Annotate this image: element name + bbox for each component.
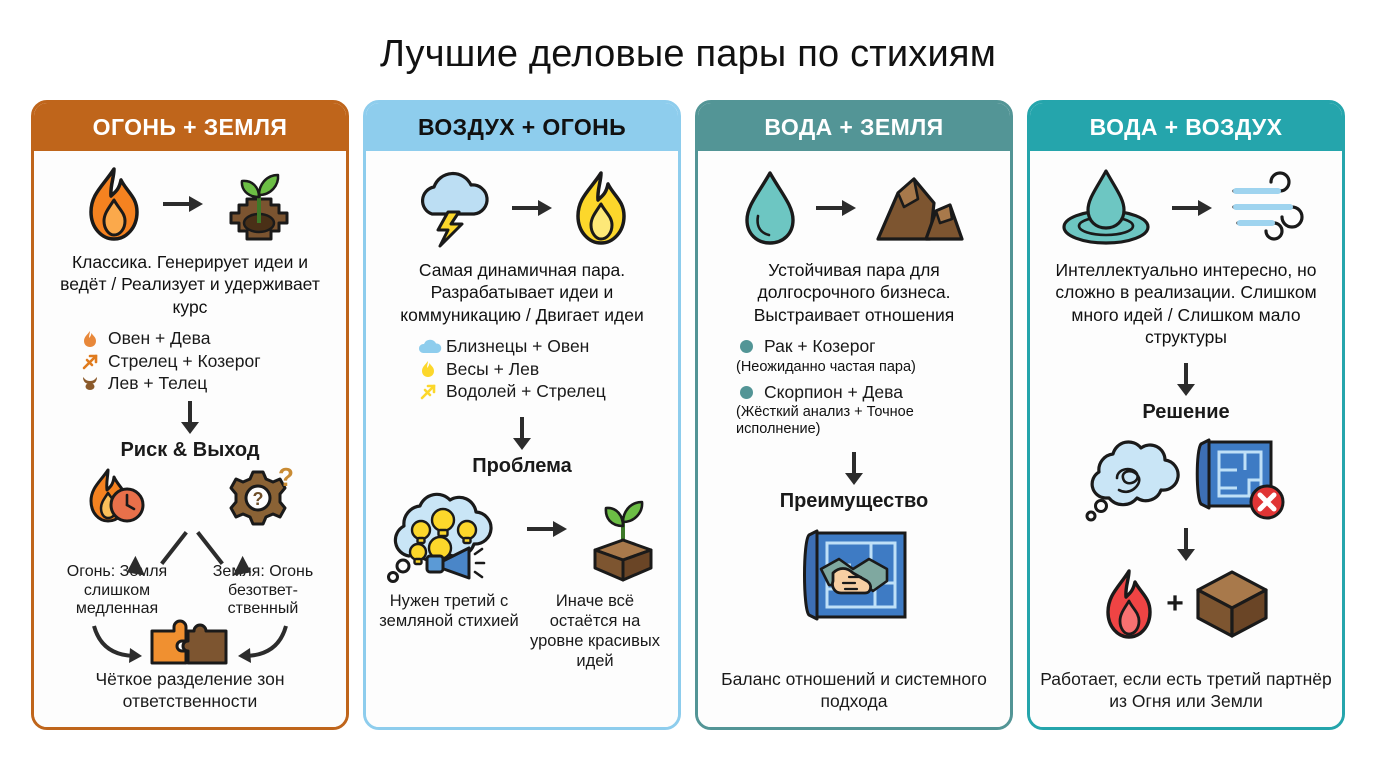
- card-header-fire-earth: ОГОНЬ + ЗЕМЛЯ: [34, 103, 346, 151]
- card-description: Интеллектуально интересно, но сложно в р…: [1040, 259, 1332, 349]
- problem-captions: Нужен третий с земляной стихией Иначе вс…: [376, 592, 668, 671]
- list-item: Весы + Лев: [418, 359, 668, 380]
- list-item: Рак + Козерог (Неожиданно частая пара): [736, 336, 1000, 375]
- risk-right-text: Земля: Огонь безответ- ственный: [193, 563, 333, 620]
- circle-icon: [736, 336, 756, 357]
- card-header-water-air: ВОДА + ВОЗДУХ: [1030, 103, 1342, 151]
- cloud-icon: [418, 336, 438, 357]
- svg-text:?: ?: [253, 489, 264, 509]
- curve-arrow-left-icon: [90, 622, 148, 666]
- pair-note: (Жёсткий анализ + Точное исполнение): [736, 404, 1000, 438]
- card-fire-earth[interactable]: ОГОНЬ + ЗЕМЛЯ: [31, 100, 349, 730]
- card-water-air[interactable]: ВОДА + ВОЗДУХ: [1027, 100, 1345, 730]
- merge-arrows: [44, 619, 336, 669]
- arrow-down-icon: [179, 401, 201, 435]
- pairs-list-water-earth: Рак + Козерог (Неожиданно частая пара) С…: [708, 336, 1000, 438]
- section-label-advantage: Преимущество: [780, 490, 929, 513]
- flame-yellow-icon: [418, 359, 438, 380]
- box-sprout-icon: [587, 494, 659, 582]
- fork-line-right: [196, 531, 224, 565]
- element-pair-icons: [83, 165, 297, 243]
- gear-question-icon: ? ?: [229, 468, 295, 524]
- bottom-caption: Работает, если есть третий партнёр из Ог…: [1040, 669, 1332, 719]
- pair-label: Овен + Дева: [108, 328, 336, 349]
- pair-label: Водолей + Стрелец: [446, 381, 668, 402]
- list-item: Стрелец + Козерог: [80, 351, 336, 372]
- pair-label: Стрелец + Козерог: [108, 351, 336, 372]
- infographic-page: Лучшие деловые пары по стихиям ОГОНЬ + З…: [0, 0, 1376, 768]
- svg-text:?: ?: [278, 462, 294, 492]
- pair-note: (Неожиданно частая пара): [736, 359, 1000, 376]
- fork-arrows: [44, 524, 336, 560]
- thought-cloud-icon: [1083, 438, 1175, 520]
- arrow-right-icon: [510, 198, 554, 218]
- pair-label: Близнецы + Овен: [446, 336, 668, 357]
- cards-row: ОГОНЬ + ЗЕМЛЯ: [0, 82, 1376, 730]
- problem-icons-row: [376, 492, 668, 584]
- solution-icons-row: [1040, 436, 1332, 522]
- sagittarius-arrow-icon: [80, 351, 100, 372]
- card-description: Устойчивая пара для долгосрочного бизнес…: [708, 259, 1000, 326]
- bottom-caption: Чёткое разделение зон ответственности: [44, 669, 336, 719]
- sprout-gear-icon: [221, 165, 297, 243]
- list-item: Скорпион + Дева (Жёсткий анализ + Точное…: [736, 382, 1000, 439]
- card-water-earth[interactable]: ВОДА + ЗЕМЛЯ: [695, 100, 1013, 730]
- arrow-down-icon: [1175, 363, 1197, 397]
- problem-left-caption: Нужен третий с земляной стихией: [379, 592, 519, 671]
- card-body-fire-earth: Классика. Генерирует идеи и ведёт / Реал…: [34, 151, 346, 727]
- arrow-right-icon: [161, 194, 205, 214]
- section-label-risk: Риск & Выход: [120, 439, 259, 462]
- flame-red-icon: [1100, 568, 1158, 640]
- card-air-fire[interactable]: ВОЗДУХ + ОГОНЬ: [363, 100, 681, 730]
- risk-text-row: Огонь: Земля слишком медленная Земля: Ог…: [44, 563, 336, 620]
- pair-label: Лев + Телец: [108, 373, 336, 394]
- water-drop-icon: [742, 170, 798, 246]
- sagittarius-arrow-icon: [418, 381, 438, 402]
- taurus-bull-icon: [80, 373, 100, 394]
- pair-label: Весы + Лев: [446, 359, 668, 380]
- element-pair-icons: [1058, 165, 1314, 251]
- fork-line-left: [161, 531, 189, 565]
- flame-icon: [83, 166, 145, 242]
- card-header-water-earth: ВОДА + ЗЕМЛЯ: [698, 103, 1010, 151]
- plus-sign: +: [1166, 587, 1184, 621]
- card-body-air-fire: Самая динамичная пара. Разрабатывает иде…: [366, 151, 678, 727]
- box-icon: [1192, 566, 1272, 642]
- element-pair-icons: [412, 165, 632, 251]
- card-body-water-earth: Устойчивая пара для долгосрочного бизнес…: [698, 151, 1010, 727]
- section-label-problem: Проблема: [472, 455, 572, 478]
- circle-icon: [736, 382, 756, 403]
- bottom-caption: Баланс отношений и системного подхода: [708, 669, 1000, 719]
- flame-clock-icon: [85, 468, 147, 524]
- arrow-right-icon: [525, 519, 569, 539]
- problem-right-caption: Иначе всё остаётся на уровне красивых ид…: [525, 592, 665, 671]
- page-title: Лучшие деловые пары по стихиям: [0, 0, 1376, 82]
- curve-arrow-right-icon: [232, 622, 290, 666]
- list-item: Водолей + Стрелец: [418, 381, 668, 402]
- pairs-list-fire-earth: Овен + Дева Стрелец + Козерог Лев + Теле…: [44, 328, 336, 395]
- risk-icons-row: ? ?: [44, 468, 336, 524]
- risk-left-text: Огонь: Земля слишком медленная: [47, 563, 187, 620]
- card-description: Классика. Генерирует идеи и ведёт / Реал…: [44, 251, 336, 318]
- arrow-right-icon: [814, 198, 858, 218]
- rocks-icon: [874, 173, 966, 243]
- puzzle-pieces-icon: [148, 619, 232, 669]
- list-item: Лев + Телец: [80, 373, 336, 394]
- card-description: Самая динамичная пара. Разрабатывает иде…: [376, 259, 668, 326]
- section-label-solution: Решение: [1142, 401, 1229, 424]
- flame-yellow-icon: [570, 170, 632, 246]
- list-item: Овен + Дева: [80, 328, 336, 349]
- flame-icon: [80, 328, 100, 349]
- arrow-right-icon: [1170, 198, 1214, 218]
- wind-icon: [1230, 175, 1314, 241]
- element-pair-icons: [742, 165, 966, 251]
- arrow-down-icon: [1175, 528, 1197, 562]
- idea-cloud-megaphone-icon: [385, 492, 507, 584]
- card-header-air-fire: ВОЗДУХ + ОГОНЬ: [366, 103, 678, 151]
- blueprint-error-icon: [1193, 436, 1289, 522]
- pair-label: Рак + Козерог: [764, 336, 1000, 357]
- result-icons-row: +: [1040, 566, 1332, 642]
- pair-label: Скорпион + Дева: [764, 382, 1000, 403]
- water-droplet-ripple-icon: [1058, 169, 1154, 247]
- arrow-down-icon: [511, 417, 533, 451]
- arrow-down-icon: [843, 452, 865, 486]
- cloud-lightning-icon: [412, 168, 494, 248]
- pairs-list-air-fire: Близнецы + Овен Весы + Лев Водолей + Стр…: [376, 336, 668, 403]
- card-body-water-air: Интеллектуально интересно, но сложно в р…: [1030, 151, 1342, 727]
- list-item: Близнецы + Овен: [418, 336, 668, 357]
- handshake-blueprint-icon: [795, 525, 913, 625]
